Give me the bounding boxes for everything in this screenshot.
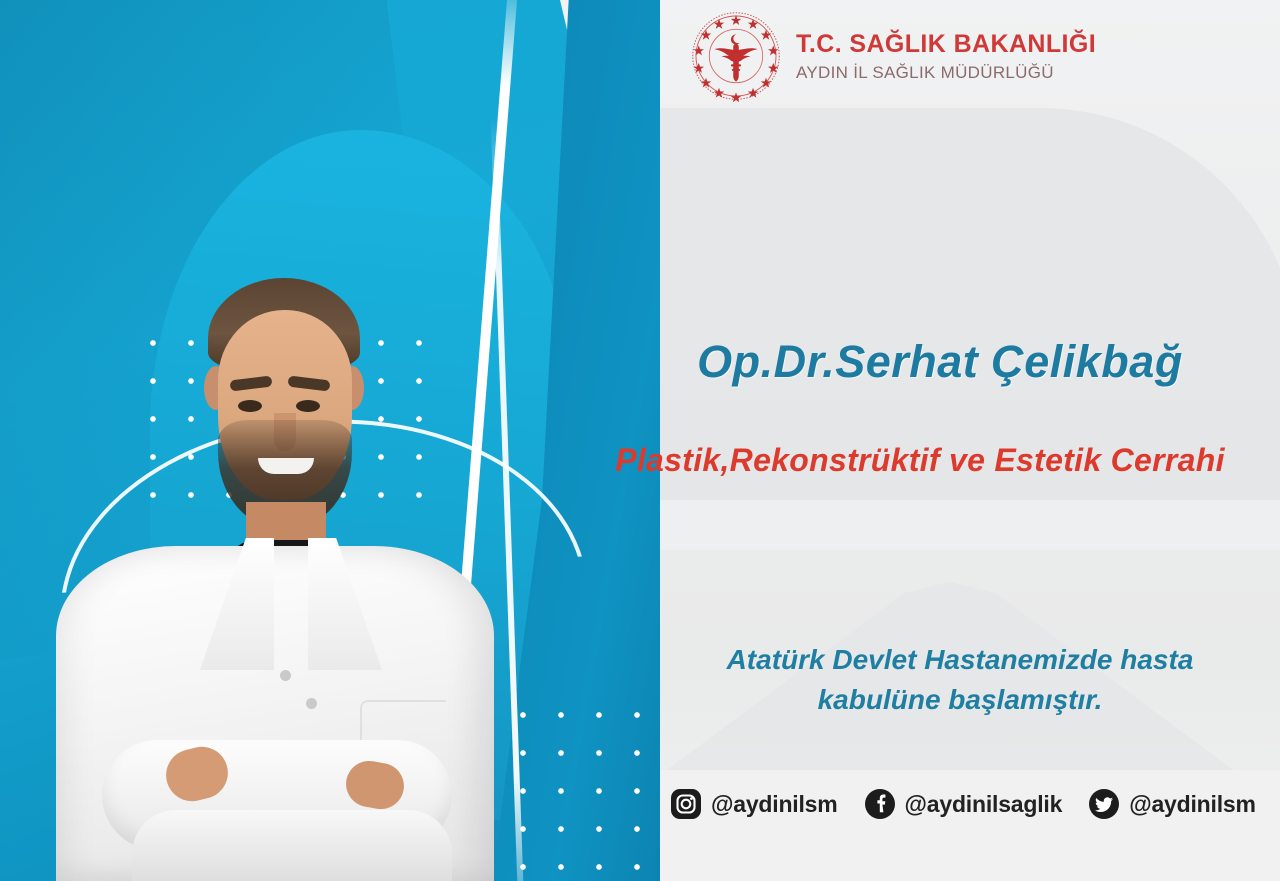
social-link-instagram[interactable]: @aydinilsm [670, 788, 838, 820]
announcement-message: Atatürk Devlet Hastanemizde hasta kabulü… [660, 640, 1260, 720]
social-link-twitter[interactable]: @aydinilsm [1088, 788, 1256, 820]
announcement-message-line2: kabulüne başlamıştır. [660, 680, 1260, 720]
instagram-handle[interactable]: @aydinilsm [711, 791, 838, 818]
facebook-icon[interactable] [864, 788, 896, 820]
ministry-title: T.C. SAĞLIK BAKANLIĞI [796, 32, 1096, 57]
announcement-poster: T.C. SAĞLIK BAKANLIĞI AYDIN İL SAĞLIK MÜ… [0, 0, 1280, 881]
twitter-handle[interactable]: @aydinilsm [1129, 791, 1256, 818]
ministry-logo: T.C. SAĞLIK BAKANLIĞI AYDIN İL SAĞLIK MÜ… [690, 10, 1096, 102]
portrait-forearm-sleeve [132, 810, 452, 881]
social-links-row: @aydinilsm @aydinilsaglik @aydinilsm [670, 788, 1256, 820]
portrait-eye-left [238, 400, 262, 412]
portrait-coat-button-lower [306, 698, 317, 709]
facebook-handle[interactable]: @aydinilsaglik [905, 791, 1063, 818]
portrait-mouth [258, 458, 314, 474]
portrait-coat-button-upper [280, 670, 291, 681]
doctor-specialty: Plastik,Rekonstrüktif ve Estetik Cerrahi [560, 442, 1280, 479]
tc-health-ministry-emblem-icon [690, 10, 782, 102]
ministry-subtitle: AYDIN İL SAĞLIK MÜDÜRLÜĞÜ [796, 64, 1096, 81]
twitter-icon[interactable] [1088, 788, 1120, 820]
doctor-portrait [40, 270, 510, 881]
ministry-logo-text: T.C. SAĞLIK BAKANLIĞI AYDIN İL SAĞLIK MÜ… [796, 32, 1096, 81]
social-link-facebook[interactable]: @aydinilsaglik [864, 788, 1063, 820]
left-blue-artwork [0, 0, 660, 881]
dot-pattern-bottom [498, 690, 658, 881]
doctor-name: Op.Dr.Serhat Çelikbağ [640, 336, 1240, 388]
portrait-eye-right [296, 400, 320, 412]
announcement-message-line1: Atatürk Devlet Hastanemizde hasta [660, 640, 1260, 680]
instagram-icon[interactable] [670, 788, 702, 820]
